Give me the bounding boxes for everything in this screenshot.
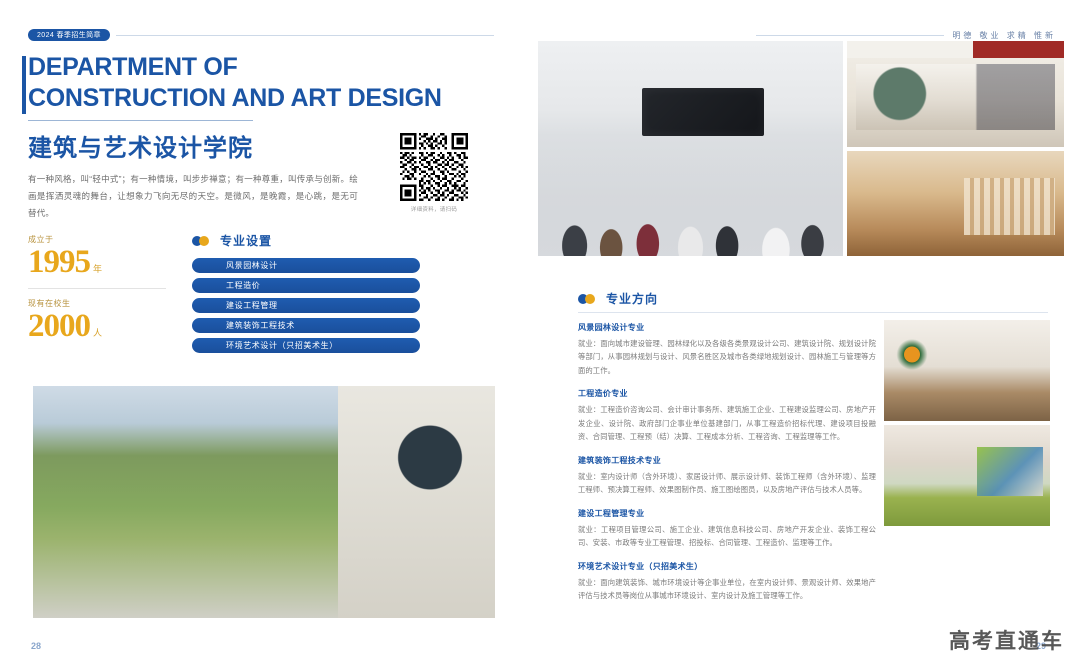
qr-code-icon[interactable] (400, 133, 468, 201)
wood-interior-photo (847, 151, 1064, 257)
wood-interior-photo-art (847, 151, 1064, 257)
qr-caption: 详细资料，请扫码 (400, 205, 468, 213)
major-pill[interactable]: 风景园林设计 (192, 258, 420, 273)
stat-students-value: 2000 (28, 308, 90, 344)
side-photo-stack (884, 320, 1050, 530)
motto-row: 明德 敬业 求精 惟新 (756, 28, 1056, 42)
stat-students: 现有在校生 2000人 (28, 298, 178, 344)
stat-students-value-row: 2000人 (28, 309, 178, 344)
page-number-left: 28 (31, 641, 41, 651)
direction-title: 风景园林设计专业 (578, 322, 876, 333)
art-exhibition-photo (847, 41, 1064, 147)
major-pill[interactable]: 环境艺术设计（只招美术生） (192, 338, 420, 353)
direction-item: 环境艺术设计专业（只招美术生） 就业：面向建筑装饰、城市环境设计等企事业单位，在… (578, 561, 876, 603)
dining-photo-art (884, 320, 1050, 421)
stat-founded-value: 1995 (28, 244, 90, 280)
stats-block: 成立于 1995年 现有在校生 2000人 (28, 234, 178, 343)
direction-title: 建设工程管理专业 (578, 508, 876, 519)
direction-body: 就业：工程项目管理公司、施工企业、建筑信息科技公司、房地产开发企业、装饰工程公司… (578, 523, 876, 550)
direction-body: 就业：室内设计师（含外环境）、家居设计师、展示设计师、装饰工程师（含外环境）、监… (578, 470, 876, 497)
direction-item: 风景园林设计专业 就业：面向城市建设管理、园林绿化以及各级各类景观设计公司、建筑… (578, 322, 876, 377)
intro-paragraph: 有一种风格，叫“轻中式”；有一种情境，叫步步禅意；有一种尊重，叫传承与创新。绘画… (28, 171, 358, 222)
direction-item: 建设工程管理专业 就业：工程项目管理公司、施工企业、建筑信息科技公司、房地产开发… (578, 508, 876, 550)
direction-body: 就业：面向城市建设管理、园林绿化以及各级各类景观设计公司、建筑设计院、规划设计院… (578, 337, 876, 377)
right-page: 明德 敬业 求精 惟新 专业方向 风景园林设计专业 就业：面向 (520, 0, 1080, 669)
majors-section-title: 专业设置 (220, 232, 272, 249)
stat-founded-unit: 年 (93, 264, 101, 274)
classroom-lecture-photo (538, 41, 843, 256)
directions-section-title: 专业方向 (606, 290, 658, 307)
direction-item: 工程造价专业 就业：工程造价咨询公司、会计审计事务所、建筑施工企业、工程建设监理… (578, 388, 876, 443)
living-room-interior-photo (884, 425, 1050, 526)
classroom-photo-art (538, 41, 843, 256)
direction-title: 工程造价专业 (578, 388, 876, 399)
issue-badge: 2024 春季招生简章 (28, 29, 110, 41)
campus-group-visit-photo (33, 386, 495, 618)
motto-divider-line (756, 35, 944, 36)
title-en-line1: DEPARTMENT OF (28, 52, 498, 83)
major-pill[interactable]: 建设工程管理 (192, 298, 420, 313)
campus-photo-art (33, 386, 495, 618)
directions-list: 风景园林设计专业 就业：面向城市建设管理、园林绿化以及各级各类景观设计公司、建筑… (578, 322, 876, 614)
direction-title: 环境艺术设计专业（只招美术生） (578, 561, 876, 572)
direction-body: 就业：面向建筑装饰、城市环境设计等企事业单位，在室内设计师、景观设计师、效果地产… (578, 576, 876, 603)
major-pill[interactable]: 工程造价 (192, 278, 420, 293)
direction-body: 就业：工程造价咨询公司、会计审计事务所、建筑施工企业、工程建设监理公司、房地产开… (578, 403, 876, 443)
directions-section-header: 专业方向 (578, 290, 658, 307)
majors-section: 专业设置 风景园林设计 工程造价 建设工程管理 建筑装饰工程技术 环境艺术设计（… (192, 232, 420, 358)
left-page: 2024 春季招生简章 DEPARTMENT OF CONSTRUCTION A… (0, 0, 520, 669)
header-badge-row: 2024 春季招生简章 (28, 28, 494, 42)
dining-room-interior-photo (884, 320, 1050, 421)
header-divider-line (116, 35, 494, 36)
qr-code-block: 详细资料，请扫码 (400, 133, 468, 213)
stat-founded: 成立于 1995年 (28, 234, 178, 280)
school-motto: 明德 敬业 求精 惟新 (952, 30, 1056, 41)
direction-item: 建筑装饰工程技术专业 就业：室内设计师（含外环境）、家居设计师、展示设计师、装饰… (578, 455, 876, 497)
living-photo-art (884, 425, 1050, 526)
directions-divider (578, 312, 1048, 313)
major-pill[interactable]: 建筑装饰工程技术 (192, 318, 420, 333)
direction-title: 建筑装饰工程技术专业 (578, 455, 876, 466)
stats-divider (28, 288, 166, 289)
exhibition-photo-art (847, 41, 1064, 147)
majors-section-header: 专业设置 (192, 232, 420, 249)
title-accent-bar (22, 56, 26, 114)
stat-founded-value-row: 1995年 (28, 245, 178, 280)
site-watermark: 高考直通车 (949, 625, 1064, 655)
photo-collage (538, 41, 1064, 256)
stat-students-unit: 人 (93, 328, 101, 338)
title-cn: 建筑与艺术设计学院 (28, 120, 253, 163)
collage-right-column (847, 41, 1064, 256)
two-dots-icon (578, 294, 600, 304)
title-en-line2: CONSTRUCTION AND ART DESIGN (28, 83, 498, 114)
brochure-spread: 2024 春季招生简章 DEPARTMENT OF CONSTRUCTION A… (0, 0, 1080, 669)
two-dots-icon (192, 236, 214, 246)
